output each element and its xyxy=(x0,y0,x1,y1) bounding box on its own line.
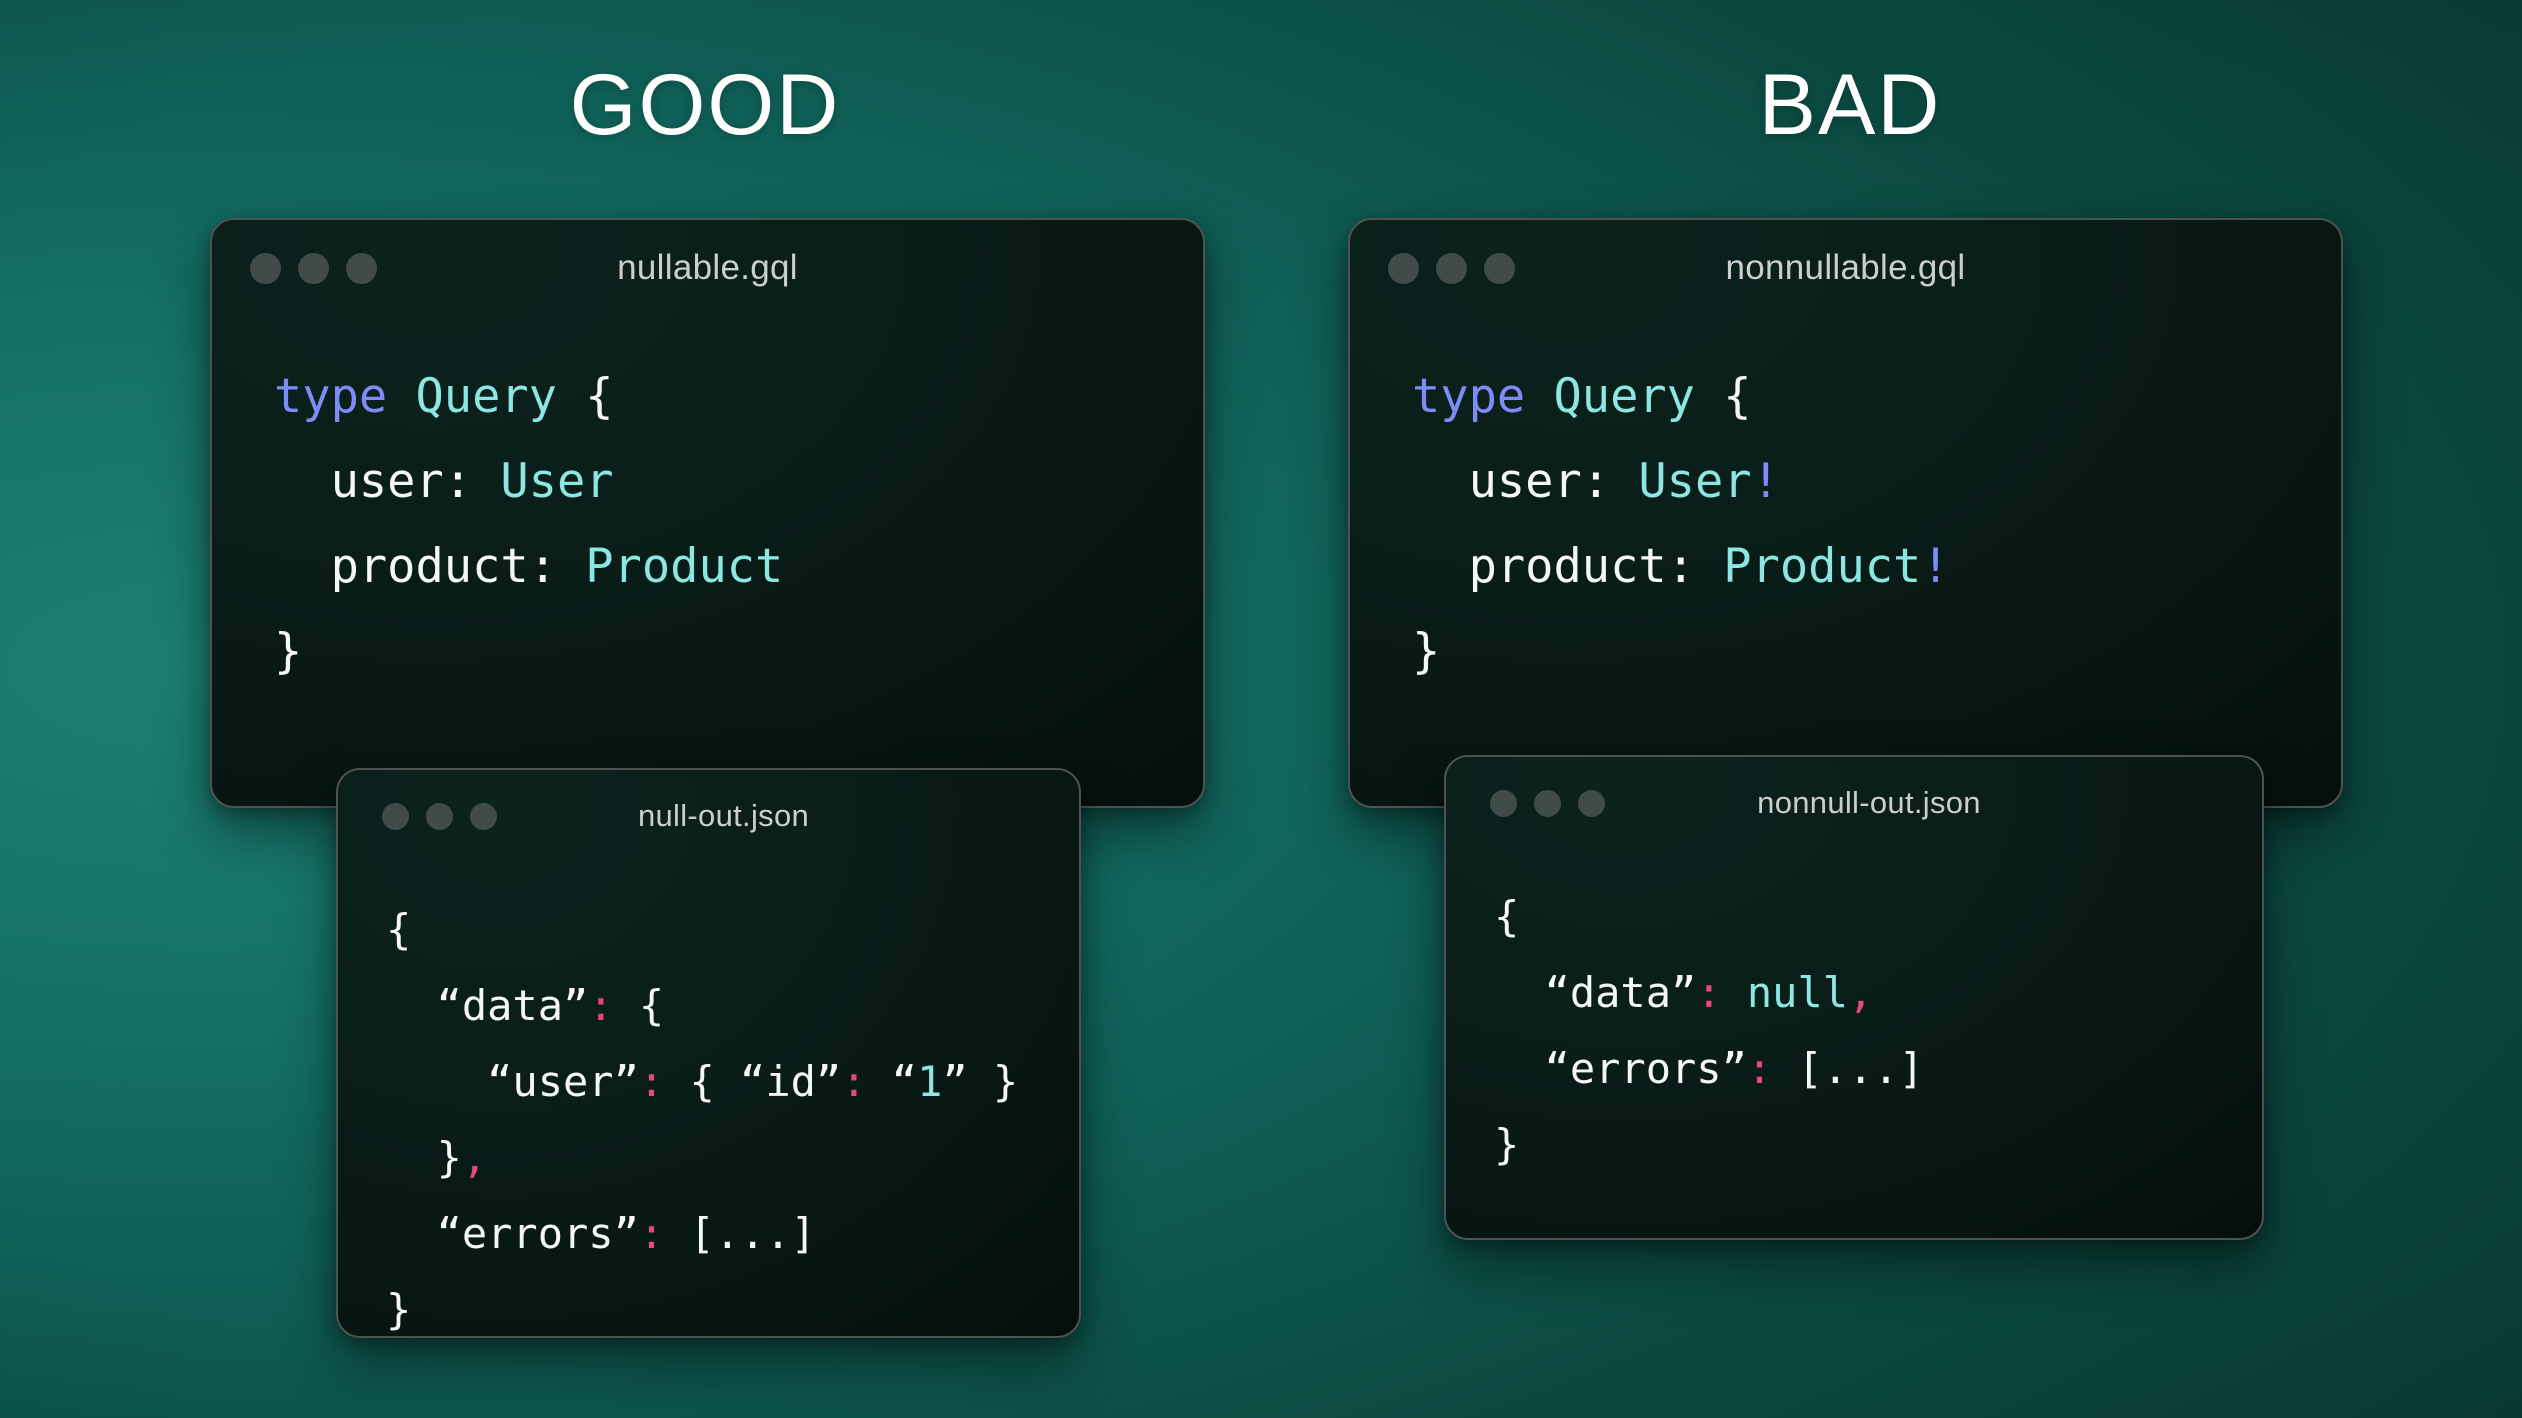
code-token: : xyxy=(1696,968,1721,1017)
code-line: { xyxy=(1494,879,2262,955)
code-token: : xyxy=(639,1057,664,1106)
code-token: : xyxy=(1747,1044,1772,1093)
minimize-dot-icon[interactable] xyxy=(1436,253,1467,284)
code-line: } xyxy=(274,609,1203,694)
code-line: type Query { xyxy=(274,354,1203,439)
code-token: { xyxy=(1494,892,1519,941)
code-window-nullable-gql[interactable]: nullable.gql type Query { user: User pro… xyxy=(210,218,1205,808)
code-token: , xyxy=(1848,968,1873,1017)
window-titlebar[interactable]: nonnull-out.json xyxy=(1446,757,2262,849)
code-token: null xyxy=(1747,968,1848,1017)
code-line: } xyxy=(386,1272,1079,1338)
code-token: “user” xyxy=(386,1057,639,1106)
code-token: { xyxy=(664,1057,740,1106)
code-line: } xyxy=(1412,609,2341,694)
code-token: “data” xyxy=(1494,968,1696,1017)
code-token: } xyxy=(1494,1120,1519,1169)
column-title-good: GOOD xyxy=(570,62,841,148)
code-block-null-out-json: { “data”: { “user”: { “id”: “1” } }, “er… xyxy=(338,892,1079,1338)
code-line: “data”: { xyxy=(386,968,1079,1044)
column-title-bad: BAD xyxy=(1759,62,1942,148)
code-token: Query xyxy=(415,369,556,424)
code-token: “id” xyxy=(740,1057,841,1106)
traffic-light-dots xyxy=(250,253,377,284)
code-token: user: xyxy=(1412,454,1638,509)
code-line: }, xyxy=(386,1120,1079,1196)
code-line: product: Product xyxy=(274,524,1203,609)
traffic-light-dots xyxy=(1388,253,1515,284)
code-line: “errors”: [...] xyxy=(1494,1031,2262,1107)
code-token: } xyxy=(386,1285,411,1334)
code-token: 1 xyxy=(917,1057,942,1106)
code-block-nullable-gql: type Query { user: User product: Product… xyxy=(212,354,1203,694)
code-window-nonnullable-gql[interactable]: nonnullable.gql type Query { user: User!… xyxy=(1348,218,2343,808)
code-token: “errors” xyxy=(1494,1044,1747,1093)
code-token: User xyxy=(500,454,613,509)
code-block-nonnullable-gql: type Query { user: User! product: Produc… xyxy=(1350,354,2341,694)
code-token: { xyxy=(614,981,665,1030)
code-token: “ xyxy=(866,1057,917,1106)
code-token: } xyxy=(386,1133,462,1182)
close-dot-icon[interactable] xyxy=(1490,790,1517,817)
code-line: } xyxy=(1494,1107,2262,1183)
code-line: user: User! xyxy=(1412,439,2341,524)
code-token: product: xyxy=(1412,539,1723,594)
maximize-dot-icon[interactable] xyxy=(1578,790,1605,817)
close-dot-icon[interactable] xyxy=(250,253,281,284)
code-token: { xyxy=(386,905,411,954)
code-token: “errors” xyxy=(386,1209,639,1258)
code-token: { xyxy=(557,369,614,424)
code-token: , xyxy=(462,1133,487,1182)
maximize-dot-icon[interactable] xyxy=(1484,253,1515,284)
code-line: type Query { xyxy=(1412,354,2341,439)
code-token: [...] xyxy=(1772,1044,1924,1093)
code-token: product: xyxy=(274,539,585,594)
code-token: } xyxy=(274,624,302,679)
code-token: User xyxy=(1638,454,1751,509)
code-token xyxy=(1722,968,1747,1017)
window-titlebar[interactable]: nonnullable.gql xyxy=(1350,220,2341,316)
code-token: : xyxy=(639,1209,664,1258)
code-window-null-out-json[interactable]: null-out.json { “data”: { “user”: { “id”… xyxy=(336,768,1081,1338)
code-line: product: Product! xyxy=(1412,524,2341,609)
code-token: [...] xyxy=(664,1209,816,1258)
code-token xyxy=(387,369,415,424)
window-titlebar[interactable]: nullable.gql xyxy=(212,220,1203,316)
code-line: “errors”: [...] xyxy=(386,1196,1079,1272)
code-token: “data” xyxy=(386,981,588,1030)
code-token: ! xyxy=(1921,539,1949,594)
close-dot-icon[interactable] xyxy=(1388,253,1419,284)
minimize-dot-icon[interactable] xyxy=(1534,790,1561,817)
code-token: } xyxy=(1412,624,1440,679)
code-token: type xyxy=(274,369,387,424)
code-token: : xyxy=(588,981,613,1030)
code-window-nonnull-out-json[interactable]: nonnull-out.json { “data”: null, “errors… xyxy=(1444,755,2264,1240)
comparison-stage: GOOD nullable.gql type Query { user: Use… xyxy=(0,0,2522,1418)
code-line: user: User xyxy=(274,439,1203,524)
maximize-dot-icon[interactable] xyxy=(470,803,497,830)
code-token: type xyxy=(1412,369,1525,424)
code-token: user: xyxy=(274,454,500,509)
minimize-dot-icon[interactable] xyxy=(298,253,329,284)
code-block-nonnull-out-json: { “data”: null, “errors”: [...]} xyxy=(1446,879,2262,1183)
code-token: : xyxy=(841,1057,866,1106)
close-dot-icon[interactable] xyxy=(382,803,409,830)
code-token: Query xyxy=(1553,369,1694,424)
code-token: ” } xyxy=(942,1057,1018,1106)
code-line: { xyxy=(386,892,1079,968)
maximize-dot-icon[interactable] xyxy=(346,253,377,284)
minimize-dot-icon[interactable] xyxy=(426,803,453,830)
code-token xyxy=(1525,369,1553,424)
traffic-light-dots xyxy=(382,803,497,830)
code-token: { xyxy=(1695,369,1752,424)
window-titlebar[interactable]: null-out.json xyxy=(338,770,1079,862)
code-line: “data”: null, xyxy=(1494,955,2262,1031)
code-token: ! xyxy=(1752,454,1780,509)
code-token: Product xyxy=(585,539,783,594)
traffic-light-dots xyxy=(1490,790,1605,817)
code-line: “user”: { “id”: “1” } xyxy=(386,1044,1079,1120)
code-token: Product xyxy=(1723,539,1921,594)
